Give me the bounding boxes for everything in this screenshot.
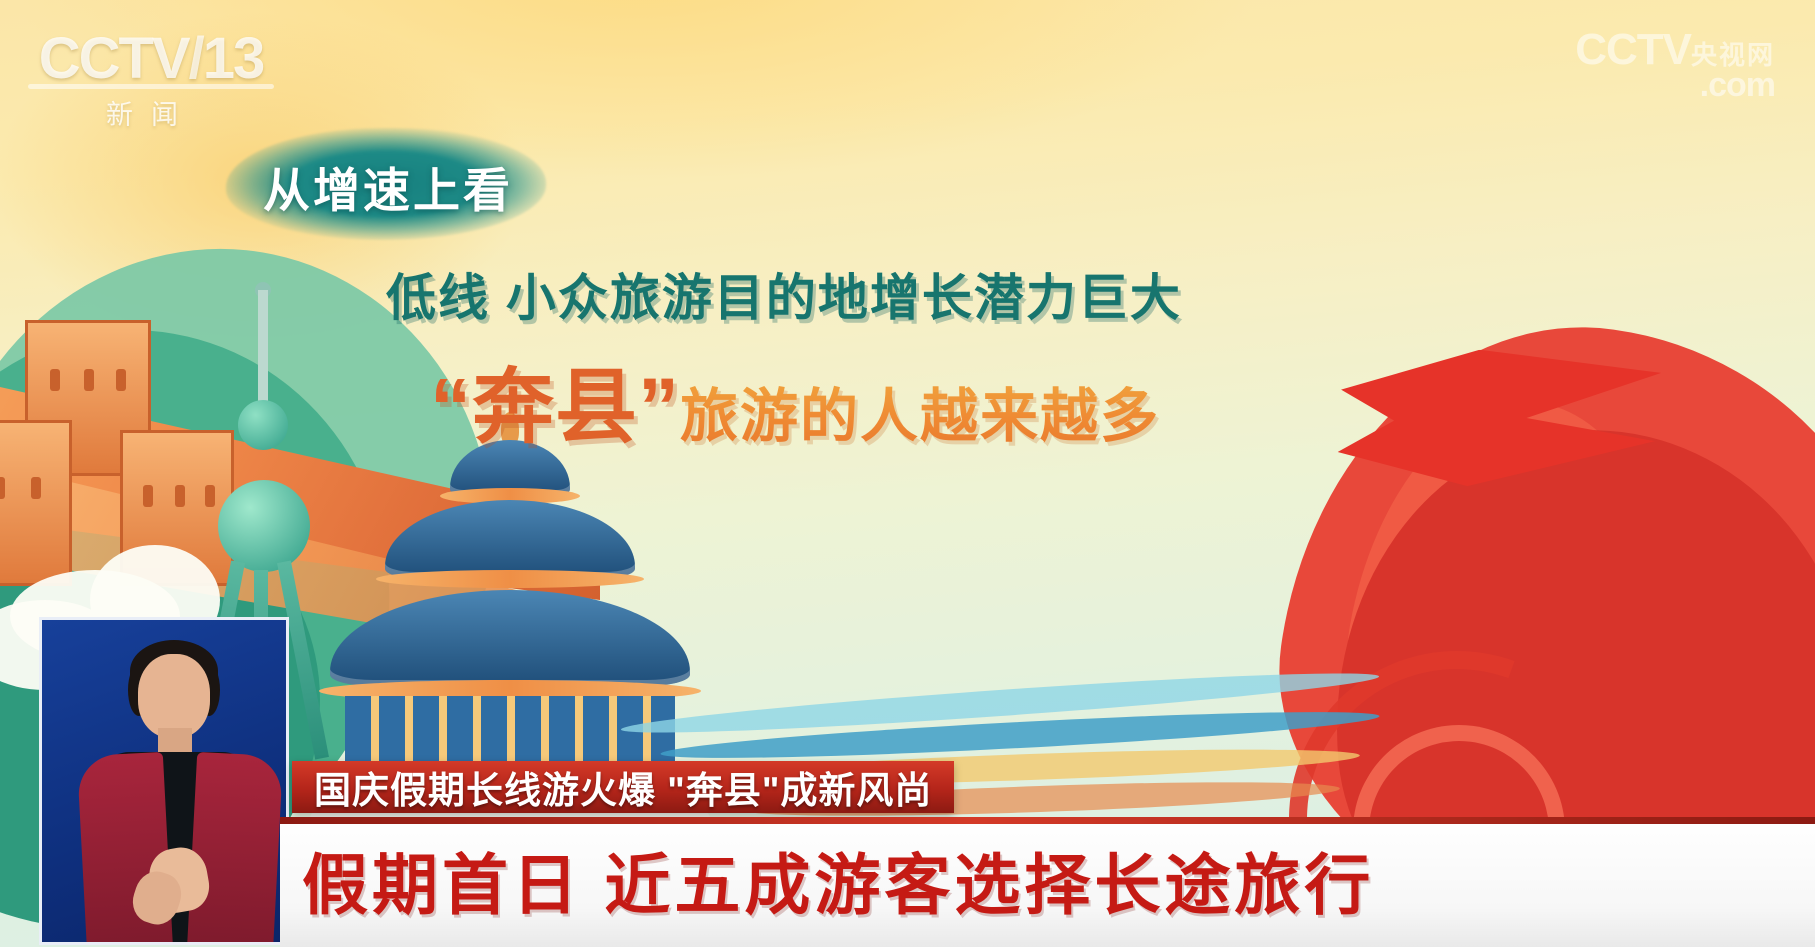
great-wall-tower-left-icon xyxy=(0,420,72,586)
cctv-com-watermark: CCTV央视网 .com xyxy=(1575,30,1775,100)
channel-logo-text: CCTV xyxy=(39,30,189,88)
channel-logo-number: 13 xyxy=(203,30,264,88)
temple-roof-bottom xyxy=(330,590,690,686)
secondary-caption-text: 国庆假期长线游火爆 "奔县"成新风尚 xyxy=(314,760,932,814)
pearl-tower-small-sphere-icon xyxy=(238,400,288,450)
broadcast-screen: CCTV / 13 新闻 CCTV央视网 .com 从增速上看 低线 小众旅游目… xyxy=(0,0,1815,947)
watermark-brand: CCTV xyxy=(1575,25,1691,74)
channel-logo-slash: / xyxy=(189,30,203,88)
headline-tail-text: 旅游的人越来越多 xyxy=(680,369,1160,459)
temple-roof-middle xyxy=(385,500,635,578)
watermark-domain: .com xyxy=(1575,70,1775,101)
pearl-tower-tip-icon xyxy=(255,282,271,298)
channel-logo-subtitle: 新闻 xyxy=(28,93,274,132)
main-caption-text: 假期首日 近五成游客选择长途旅行 xyxy=(280,824,1815,928)
headline-line-primary: “奔县” 旅游的人越来越多 xyxy=(430,340,1160,459)
presenter-jacket-right xyxy=(187,752,283,945)
channel-logo: CCTV / 13 新闻 xyxy=(28,30,274,140)
secondary-caption-bar: 国庆假期长线游火爆 "奔县"成新风尚 xyxy=(292,761,954,813)
temple-gold-ring-middle xyxy=(376,570,644,588)
pearl-tower-mast-icon xyxy=(258,290,268,430)
sign-language-presenter-window xyxy=(39,617,289,945)
headline-line-secondary: 低线 小众旅游目的地增长潜力巨大 xyxy=(386,258,1182,330)
main-caption-accent-line xyxy=(280,817,1815,824)
headline-quoted-term: “奔县” xyxy=(430,340,680,459)
presenter-face xyxy=(138,654,210,738)
main-caption-bar: 假期首日 近五成游客选择长途旅行 xyxy=(280,817,1815,947)
headline-tag: 从增速上看 xyxy=(243,152,533,221)
red-mountain-peak-illustration xyxy=(1321,377,1689,843)
red-flag-icon xyxy=(1329,331,1672,505)
